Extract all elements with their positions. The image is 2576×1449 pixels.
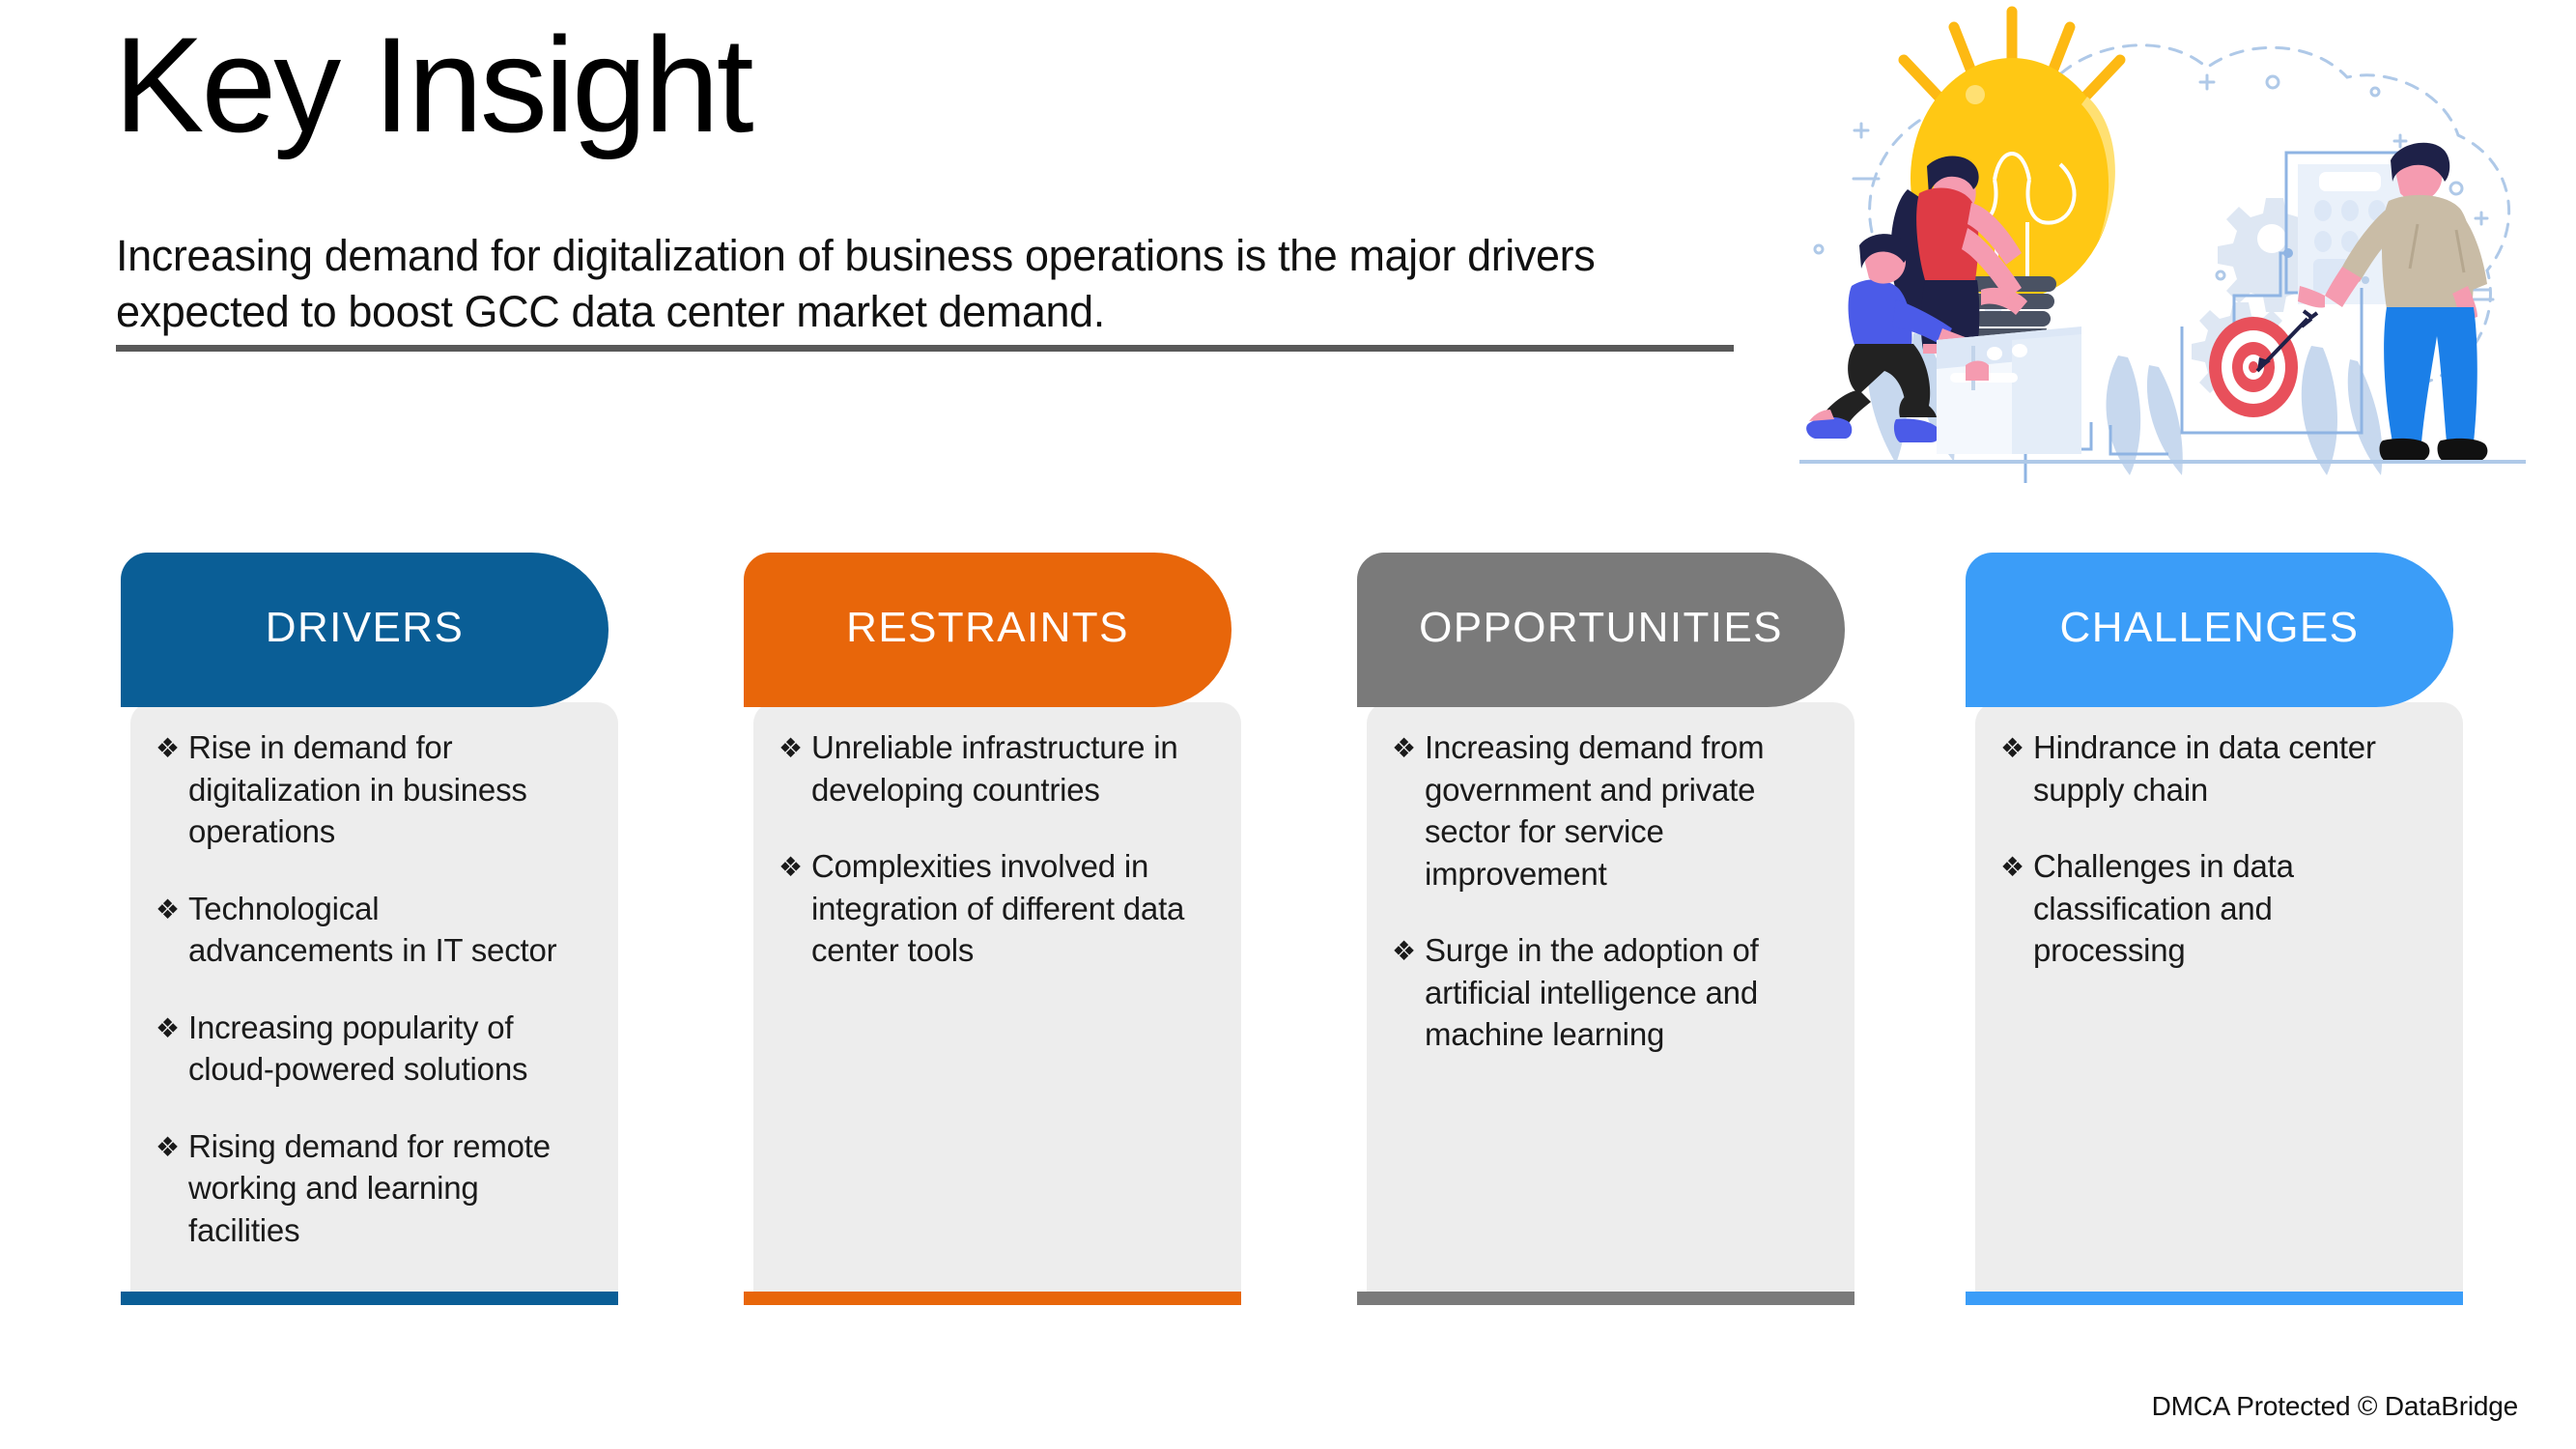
- bullet-diamond-icon: ❖: [2000, 845, 2033, 886]
- idea-teamwork-illustration: [1792, 0, 2564, 493]
- list-item-text: Hindrance in data center supply chain: [2033, 726, 2430, 810]
- bullet-list: ❖ Unreliable infrastructure in developin…: [753, 726, 1241, 1007]
- card-title: DRIVERS: [266, 604, 464, 652]
- copyright-notice: DMCA Protected © DataBridge: [2152, 1391, 2518, 1422]
- card-title: OPPORTUNITIES: [1419, 604, 1783, 652]
- list-item-text: Increasing demand from government and pr…: [1425, 726, 1822, 895]
- card-title: CHALLENGES: [2060, 604, 2360, 652]
- bullet-diamond-icon: ❖: [156, 1125, 188, 1166]
- list-item-text: Rising demand for remote working and lea…: [188, 1125, 585, 1252]
- list-item: ❖ Surge in the adoption of artificial in…: [1367, 929, 1854, 1056]
- bullet-list: ❖ Rise in demand for digitalization in b…: [130, 726, 618, 1286]
- bullet-diamond-icon: ❖: [2000, 726, 2033, 767]
- list-item: ❖ Unreliable infrastructure in developin…: [753, 726, 1241, 810]
- card-accent-bar: [744, 1292, 1241, 1305]
- list-item: ❖ Rise in demand for digitalization in b…: [130, 726, 618, 853]
- list-item: ❖ Increasing popularity of cloud-powered…: [130, 1007, 618, 1091]
- list-item-text: Unreliable infrastructure in developing …: [811, 726, 1208, 810]
- bullet-diamond-icon: ❖: [1392, 726, 1425, 767]
- card-header-tab[interactable]: DRIVERS: [121, 553, 609, 707]
- card-header-tab[interactable]: RESTRAINTS: [744, 553, 1231, 707]
- list-item-text: Challenges in data classification and pr…: [2033, 845, 2430, 972]
- desk-podium: [1937, 327, 2081, 454]
- card-restraints[interactable]: RESTRAINTS ❖ Unreliable infrastructure i…: [744, 553, 1241, 1306]
- card-accent-bar: [1357, 1292, 1854, 1305]
- list-item: ❖ Rising demand for remote working and l…: [130, 1125, 618, 1252]
- list-item-text: Complexities involved in integration of …: [811, 845, 1208, 972]
- page-subtitle: Increasing demand for digitalization of …: [116, 228, 1748, 339]
- bullet-list: ❖ Hindrance in data center supply chain …: [1975, 726, 2463, 1007]
- list-item-text: Surge in the adoption of artificial inte…: [1425, 929, 1822, 1056]
- list-item-text: Technological advancements in IT sector: [188, 888, 585, 972]
- page-title: Key Insight: [114, 17, 751, 153]
- card-header-tab[interactable]: OPPORTUNITIES: [1357, 553, 1845, 707]
- card-accent-bar: [121, 1292, 618, 1305]
- card-drivers[interactable]: DRIVERS ❖ Rise in demand for digitalizat…: [121, 553, 618, 1306]
- list-item-text: Increasing popularity of cloud-powered s…: [188, 1007, 585, 1091]
- list-item-text: Rise in demand for digitalization in bus…: [188, 726, 585, 853]
- list-item: ❖ Technological advancements in IT secto…: [130, 888, 618, 972]
- title-underline-rule: [116, 345, 1734, 352]
- card-header-tab[interactable]: CHALLENGES: [1966, 553, 2453, 707]
- card-opportunities[interactable]: OPPORTUNITIES ❖ Increasing demand from g…: [1357, 553, 1854, 1306]
- list-item: ❖ Increasing demand from government and …: [1367, 726, 1854, 895]
- bullet-diamond-icon: ❖: [778, 845, 811, 886]
- bullet-diamond-icon: ❖: [778, 726, 811, 767]
- bullet-diamond-icon: ❖: [156, 726, 188, 767]
- card-title: RESTRAINTS: [846, 604, 1129, 652]
- bullet-diamond-icon: ❖: [156, 888, 188, 928]
- bullet-diamond-icon: ❖: [1392, 929, 1425, 970]
- list-item: ❖ Hindrance in data center supply chain: [1975, 726, 2463, 810]
- bullet-diamond-icon: ❖: [156, 1007, 188, 1047]
- list-item: ❖ Challenges in data classification and …: [1975, 845, 2463, 972]
- card-accent-bar: [1966, 1292, 2463, 1305]
- bullet-list: ❖ Increasing demand from government and …: [1367, 726, 1854, 1091]
- list-item: ❖ Complexities involved in integration o…: [753, 845, 1241, 972]
- card-challenges[interactable]: CHALLENGES ❖ Hindrance in data center su…: [1966, 553, 2463, 1306]
